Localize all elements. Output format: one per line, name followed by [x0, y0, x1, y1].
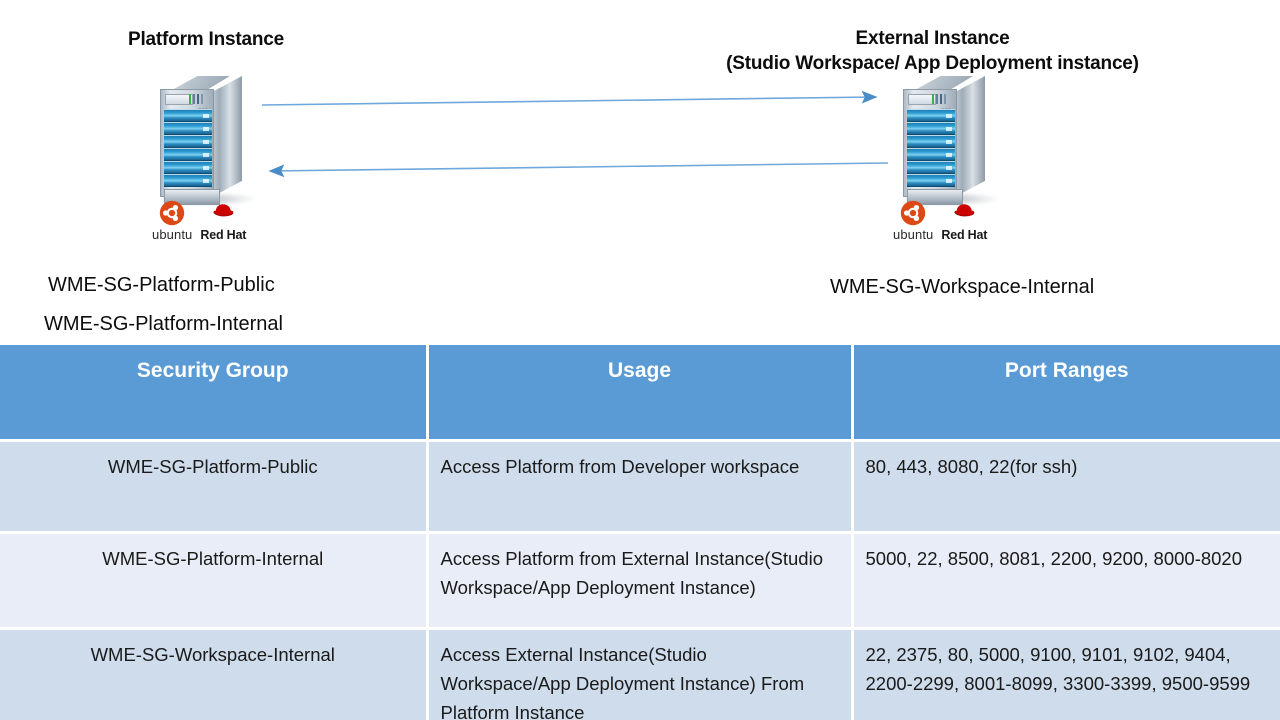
cell-security-group: WME-SG-Workspace-Internal [0, 628, 427, 720]
column-header-usage: Usage [427, 345, 852, 440]
table-row: WME-SG-Workspace-Internal Access Externa… [0, 628, 1280, 720]
table-row: WME-SG-Platform-Internal Access Platform… [0, 532, 1280, 628]
table-header: Security Group Usage Port Ranges [0, 345, 1280, 440]
cell-usage: Access Platform from External Instance(S… [427, 532, 852, 628]
architecture-diagram: Platform Instance External Instance (Stu… [0, 0, 1280, 345]
sg-label-platform-public: WME-SG-Platform-Public [48, 266, 275, 304]
table-row: WME-SG-Platform-Public Access Platform f… [0, 440, 1280, 532]
cell-security-group: WME-SG-Platform-Internal [0, 532, 427, 628]
column-header-port-ranges: Port Ranges [852, 345, 1280, 440]
cell-port-ranges: 5000, 22, 8500, 8081, 2200, 9200, 8000-8… [852, 532, 1280, 628]
cell-usage: Access External Instance(Studio Workspac… [427, 628, 852, 720]
slide-canvas: Platform Instance External Instance (Stu… [0, 0, 1280, 720]
sg-label-platform-internal: WME-SG-Platform-Internal [44, 305, 283, 343]
arrow-external-to-platform [270, 163, 888, 171]
column-header-security-group: Security Group [0, 345, 427, 440]
arrow-platform-to-external [262, 97, 876, 105]
security-groups-table: Security Group Usage Port Ranges WME-SG-… [0, 345, 1280, 720]
cell-usage: Access Platform from Developer workspace [427, 440, 852, 532]
table-header-row: Security Group Usage Port Ranges [0, 345, 1280, 440]
cell-port-ranges: 80, 443, 8080, 22(for ssh) [852, 440, 1280, 532]
sg-label-workspace-internal: WME-SG-Workspace-Internal [830, 268, 1094, 306]
table-body: WME-SG-Platform-Public Access Platform f… [0, 440, 1280, 720]
cell-port-ranges: 22, 2375, 80, 5000, 9100, 9101, 9102, 94… [852, 628, 1280, 720]
cell-security-group: WME-SG-Platform-Public [0, 440, 427, 532]
